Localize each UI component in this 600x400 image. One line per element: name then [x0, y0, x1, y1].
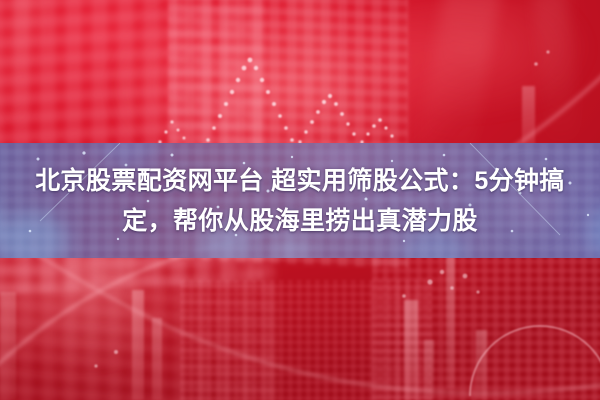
stock-banner: 北京股票配资网平台 超实用筛股公式：5分钟搞 定，帮你从股海里捞出真潜力股 [0, 0, 600, 400]
arc-line-dial [470, 326, 600, 396]
headline: 北京股票配资网平台 超实用筛股公式：5分钟搞 定，帮你从股海里捞出真潜力股 [0, 143, 600, 258]
arc-line-lower [30, 250, 600, 393]
headline-band: 北京股票配资网平台 超实用筛股公式：5分钟搞 定，帮你从股海里捞出真潜力股 [0, 143, 600, 258]
headline-line-1: 北京股票配资网平台 超实用筛股公式：5分钟搞 [35, 163, 565, 199]
headline-line-2: 定，帮你从股海里捞出真潜力股 [122, 203, 478, 239]
dotted-zigzag-line [158, 58, 393, 144]
